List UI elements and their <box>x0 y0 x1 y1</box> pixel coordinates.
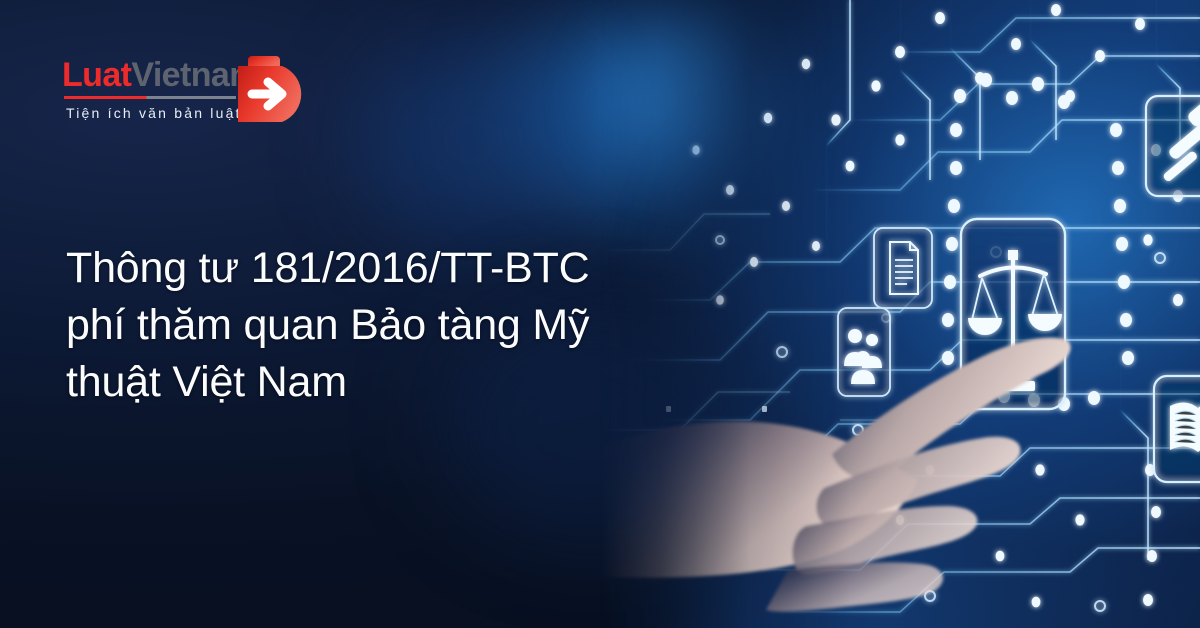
arrow-right-folder-icon <box>234 52 316 126</box>
title-line-2: phí thăm quan Bảo tàng Mỹ <box>66 297 686 354</box>
legal-tech-artwork <box>600 0 1200 628</box>
document-lines-icon <box>872 226 934 310</box>
logo-word-luat: Luat <box>62 56 131 94</box>
title-line-1: Thông tư 181/2016/TT-BTC <box>66 240 686 297</box>
gavel-icon <box>1140 92 1200 202</box>
logo-underline <box>64 96 236 99</box>
luatvietnam-logo[interactable]: LuatVietnam Tiện ích văn bản luật <box>62 58 312 140</box>
page-title: Thông tư 181/2016/TT-BTC phí thăm quan B… <box>66 240 686 411</box>
logo-tagline: Tiện ích văn bản luật <box>66 105 242 121</box>
title-line-3: thuật Việt Nam <box>66 354 686 411</box>
og-banner: LuatVietnam Tiện ích văn bản luật Thông … <box>0 0 1200 628</box>
